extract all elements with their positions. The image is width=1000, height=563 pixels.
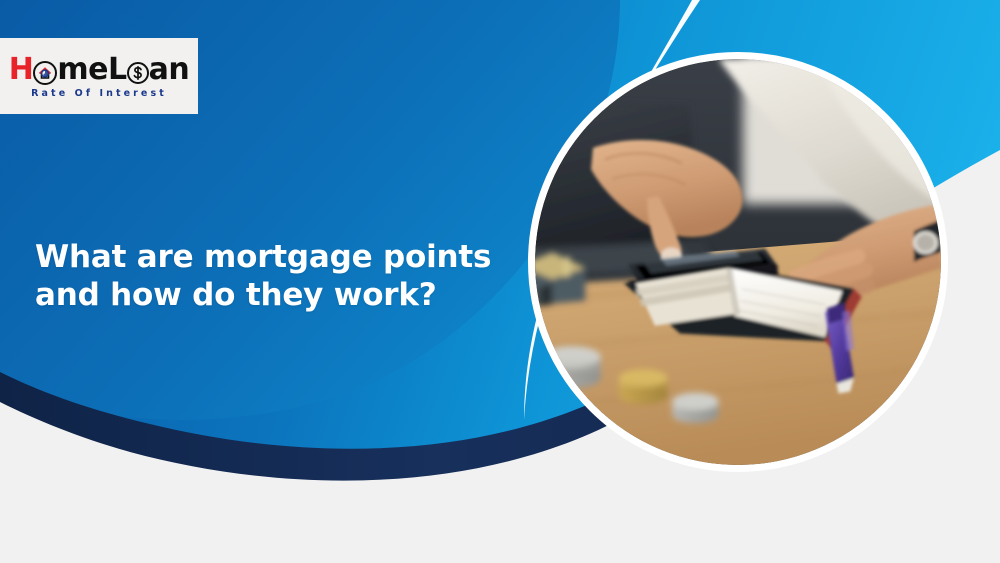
page-title: What are mortgage points and how do they… [35,238,505,314]
logo-letter-h: H [9,55,34,85]
promo-banner: H me L an Rate Of Int [0,0,1000,563]
desk-scene-illustration [535,59,941,465]
logo-text-an: an [149,55,190,85]
logo-text-me: me [57,55,108,85]
house-swirl-circle-icon [33,61,57,85]
logo-wordmark: H me L an [9,55,189,85]
headline-line-2: and how do they work? [35,276,505,314]
headline-line-1: What are mortgage points [35,238,505,276]
hero-photo [528,52,948,472]
logo-tagline: Rate Of Interest [31,88,167,99]
dollar-circle-icon [127,62,149,84]
brand-logo[interactable]: H me L an Rate Of Int [0,38,198,114]
hero-photo-image [535,59,941,465]
logo-letter-l: L [108,55,127,85]
